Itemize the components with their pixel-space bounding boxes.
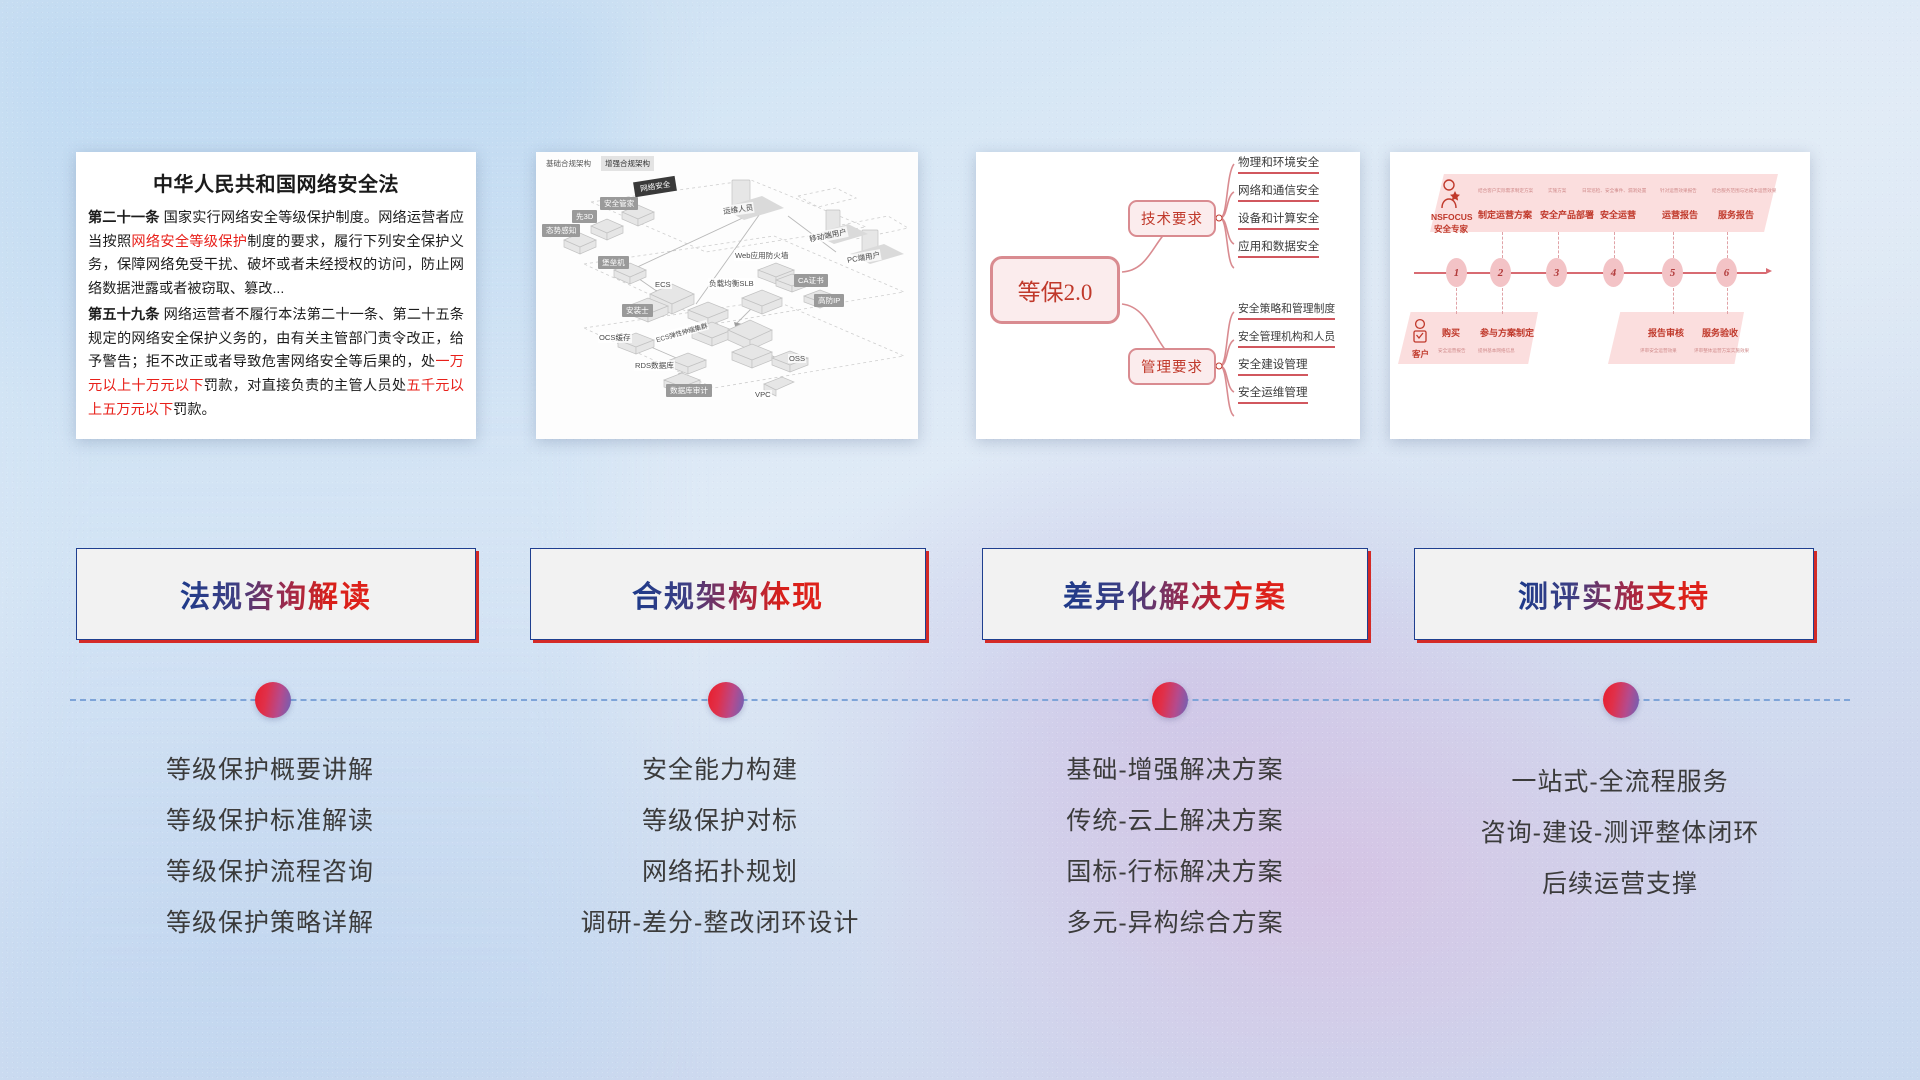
timeline-marker-1[interactable] — [255, 682, 291, 718]
section-items-2: 安全能力构建 等级保护对标 网络拓扑规划 调研-差分-整改闭环设计 — [510, 745, 930, 949]
article-highlight: 网络安全等级保护 — [131, 234, 247, 250]
section-title-box-3[interactable]: 差异化解决方案 — [982, 548, 1368, 640]
section-item: 等级保护流程咨询 — [60, 847, 480, 898]
card-cloud-architecture[interactable]: 基础合规架构 增强合规架构 — [536, 152, 918, 439]
timeline-step-dot: 6 — [1716, 258, 1737, 287]
arch-node-bastion-host: 堡垒机 — [598, 256, 629, 269]
law-title: 中华人民共和国网络安全法 — [76, 152, 476, 207]
customer-step-label: 报告审核 — [1648, 326, 1684, 339]
section-item: 基础-增强解决方案 — [965, 745, 1385, 796]
expert-band — [1430, 174, 1778, 232]
arch-node-rds: RDS数据库 — [634, 360, 675, 371]
timeline-leader — [1456, 288, 1457, 314]
customer-step-label: 购买 — [1442, 326, 1460, 339]
timeline-step-label: 运营报告 — [1662, 208, 1698, 221]
mindmap-leaf: 安全策略和管理制度 — [1238, 300, 1335, 320]
arch-node-vpc: VPC — [754, 390, 772, 399]
mindmap-leaf: 设备和计算安全 — [1238, 210, 1319, 230]
expert-role: 安全专家 — [1434, 223, 1468, 235]
mindmap-branch-management: 管理要求 — [1128, 348, 1216, 385]
arch-node-ecs: ECS — [654, 280, 672, 289]
timeline-step-dot: 4 — [1603, 258, 1624, 287]
timeline-leader — [1558, 232, 1559, 258]
section-title-text: 合规架构体现 — [632, 572, 824, 616]
service-timeline: NSFOCUS 安全专家 客户 1 2 3 4 5 6 — [1390, 152, 1810, 439]
card-cybersecurity-law[interactable]: 中华人民共和国网络安全法 第二十一条 国家实行网络安全等级保护制度。网络运营者应… — [76, 152, 476, 439]
customer-step-sub: 提供基本网络信息 — [1478, 348, 1515, 354]
section-items-1: 等级保护概要讲解 等级保护标准解读 等级保护流程咨询 等级保护策略详解 — [60, 745, 480, 949]
arch-node-waf: Web应用防火墙 — [734, 250, 789, 261]
timeline-step-sub: 日常巡检、安全事件、漏洞处置 — [1582, 188, 1646, 194]
article-text: 罚款。 — [173, 402, 216, 418]
customer-step-sub: 评审整体运营方案实施效果 — [1694, 348, 1749, 354]
mindmap-leaf: 网络和通信安全 — [1238, 182, 1319, 202]
timeline-step-label: 安全运营 — [1600, 208, 1636, 221]
expert-icon — [1438, 178, 1460, 212]
mindmap-leaf: 安全运维管理 — [1238, 384, 1308, 404]
mindmap-root: 等保2.0 — [990, 256, 1120, 324]
section-item: 后续运营支撑 — [1400, 859, 1840, 910]
customer-role: 客户 — [1412, 348, 1429, 360]
timeline-leader — [1673, 232, 1674, 258]
section-item: 调研-差分-整改闭环设计 — [510, 898, 930, 949]
section-item: 等级保护对标 — [510, 796, 930, 847]
article-label: 第二十一条 — [88, 210, 160, 226]
section-item: 多元-异构综合方案 — [965, 898, 1385, 949]
section-title-text: 法规咨询解读 — [180, 572, 372, 616]
section-item: 网络拓扑规划 — [510, 847, 930, 898]
customer-step-label: 参与方案制定 — [1480, 326, 1534, 339]
section-title-box-4[interactable]: 测评实施支持 — [1414, 548, 1814, 640]
arch-node-anti-ddos-ip: 高防IP — [814, 294, 844, 307]
section-item: 国标-行标解决方案 — [965, 847, 1385, 898]
timeline-leader — [1727, 232, 1728, 258]
customer-step-label: 服务验收 — [1702, 326, 1738, 339]
section-item: 传统-云上解决方案 — [965, 796, 1385, 847]
arch-node-security-steward: 安全管家 — [600, 197, 638, 210]
timeline-step-dot: 1 — [1446, 258, 1467, 287]
section-item: 咨询-建设-测评整体闭环 — [1400, 808, 1840, 859]
law-body: 第二十一条 国家实行网络安全等级保护制度。网络运营者应当按照网络安全等级保护制度… — [76, 207, 476, 422]
customer-step-sub: 安全运营报告 — [1438, 348, 1466, 354]
timeline-step-label: 服务报告 — [1718, 208, 1754, 221]
mindmap: 等保2.0 技术要求 管理要求 物理和环境安全 网络和通信安全 设备和计算安全 … — [976, 152, 1360, 439]
timeline-step-label: 安全产品部署 — [1540, 208, 1594, 221]
section-items-3: 基础-增强解决方案 传统-云上解决方案 国标-行标解决方案 多元-异构综合方案 — [965, 745, 1385, 949]
timeline-step-dot: 2 — [1490, 258, 1511, 287]
law-article-59: 第五十九条 网络运营者不履行本法第二十一条、第二十五条规定的网络安全保护义务的，… — [88, 304, 464, 422]
section-item: 等级保护标准解读 — [60, 796, 480, 847]
section-items-4: 一站式-全流程服务 咨询-建设-测评整体闭环 后续运营支撑 — [1400, 757, 1840, 910]
timeline-arrow-icon — [1766, 268, 1772, 274]
law-article-21: 第二十一条 国家实行网络安全等级保护制度。网络运营者应当按照网络安全等级保护制度… — [88, 207, 464, 301]
mindmap-leaf: 安全管理机构和人员 — [1238, 328, 1335, 348]
arch-node-ocs-cache: OCS缓存 — [598, 332, 632, 343]
timeline-step-sub: 针对运营效果报告 — [1660, 188, 1697, 194]
illustration-card-row: 中华人民共和国网络安全法 第二十一条 国家实行网络安全等级保护制度。网络运营者应… — [0, 152, 1920, 452]
section-title-box-2[interactable]: 合规架构体现 — [530, 548, 926, 640]
timeline-leader — [1673, 288, 1674, 314]
timeline-step-dot: 3 — [1546, 258, 1567, 287]
card-mindmap-dengbao[interactable]: 等保2.0 技术要求 管理要求 物理和环境安全 网络和通信安全 设备和计算安全 … — [976, 152, 1360, 439]
timeline-marker-2[interactable] — [708, 682, 744, 718]
timeline-leader — [1502, 232, 1503, 258]
timeline-step-label: 制定运营方案 — [1478, 208, 1532, 221]
article-label: 第五十九条 — [88, 307, 160, 323]
timeline-step-sub: 结合服务范围与达成本运营效果 — [1712, 188, 1776, 194]
customer-step-sub: 评审安全运营效果 — [1640, 348, 1677, 354]
mindmap-leaf: 物理和环境安全 — [1238, 154, 1319, 174]
timeline-leader — [1727, 288, 1728, 314]
timeline-step-sub: 实施方案 — [1548, 188, 1566, 194]
timeline-leader — [1502, 288, 1503, 314]
mindmap-leaf: 应用和数据安全 — [1238, 238, 1319, 258]
architecture-diagram: 基础合规架构 增强合规架构 — [536, 152, 918, 439]
section-item: 等级保护策略详解 — [60, 898, 480, 949]
card-service-timeline[interactable]: NSFOCUS 安全专家 客户 1 2 3 4 5 6 — [1390, 152, 1810, 439]
section-title-box-1[interactable]: 法规咨询解读 — [76, 548, 476, 640]
arch-node-db-audit: 数据库审计 — [666, 384, 712, 397]
section-item: 等级保护概要讲解 — [60, 745, 480, 796]
mindmap-leaf: 安全建设管理 — [1238, 356, 1308, 376]
article-text: 罚款，对直接负责的主管人员处 — [204, 378, 407, 394]
section-item: 安全能力构建 — [510, 745, 930, 796]
arch-node-oss: OSS — [788, 354, 806, 363]
arch-node-3d: 先3D — [572, 210, 597, 223]
customer-icon — [1410, 318, 1430, 348]
arch-node-ca-cert: CA证书 — [794, 274, 828, 287]
timeline-marker-3[interactable] — [1152, 682, 1188, 718]
architecture-connectors — [536, 152, 918, 439]
arch-node-installer: 安装士 — [622, 304, 653, 317]
section-title-text: 差异化解决方案 — [1063, 572, 1287, 616]
mindmap-branch-technical: 技术要求 — [1128, 200, 1216, 237]
section-item: 一站式-全流程服务 — [1400, 757, 1840, 808]
timeline-marker-4[interactable] — [1603, 682, 1639, 718]
arch-node-situational-awareness: 态势感知 — [542, 224, 580, 237]
timeline-step-sub: 结合客户实际需求制定方案 — [1478, 188, 1533, 194]
expert-brand: NSFOCUS — [1431, 212, 1473, 222]
timeline-step-dot: 5 — [1662, 258, 1683, 287]
arch-node-slb: 负载均衡SLB — [708, 278, 755, 289]
section-title-text: 测评实施支持 — [1518, 572, 1710, 616]
timeline-dashed-line — [70, 699, 1850, 701]
timeline-leader — [1614, 232, 1615, 258]
